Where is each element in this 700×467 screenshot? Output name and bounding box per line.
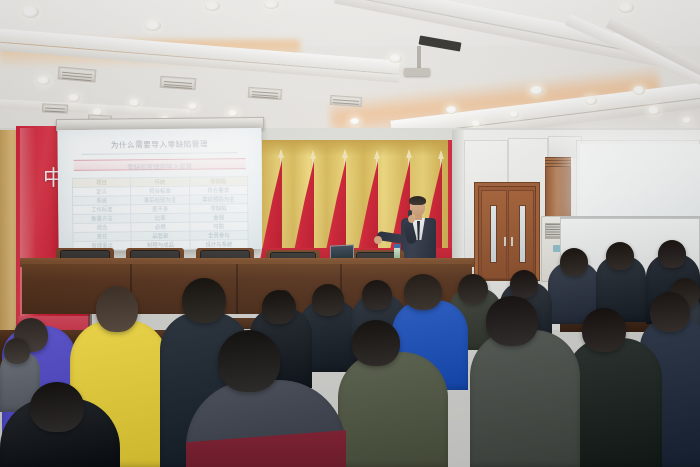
door-glass-panel <box>490 205 497 263</box>
recessed-downlight <box>633 86 645 95</box>
recessed-downlight <box>618 2 634 13</box>
attendee-head <box>404 274 442 310</box>
speaker-right-hand <box>374 236 382 244</box>
recessed-downlight <box>228 110 238 117</box>
ceiling-projector <box>404 68 430 76</box>
recessed-downlight <box>145 20 161 31</box>
slide-subtitle-band: 零缺陷管理的导入背景 <box>74 158 246 171</box>
flag-spear-tip <box>374 150 380 159</box>
recessed-downlight <box>648 106 660 115</box>
attendee-head <box>352 320 400 366</box>
attendee-head <box>262 290 296 324</box>
recessed-downlight <box>530 86 543 95</box>
attendee-head <box>650 292 690 332</box>
door-handle <box>504 237 506 246</box>
slide-subtitle: 零缺陷管理的导入背景 <box>74 160 246 172</box>
attendee-torso <box>566 338 662 467</box>
slide-title: 为什么需要导入零缺陷管理 <box>67 138 251 151</box>
attendee-head <box>30 382 84 432</box>
presentation-slide: 为什么需要导入零缺陷管理 零缺陷管理的导入背景 项目 传统 零缺陷 定义符合标准… <box>57 128 262 251</box>
flag-spear-tip <box>406 149 412 158</box>
attendee-head <box>658 240 686 268</box>
speaker-left-hand <box>408 215 415 223</box>
recessed-downlight <box>509 111 519 118</box>
recessed-downlight <box>37 76 50 85</box>
hvac-vent <box>160 76 197 90</box>
flag-spear-tip <box>278 149 284 158</box>
slide-title-rule <box>82 152 238 155</box>
attendee-head <box>510 270 538 298</box>
flag-spear-tip <box>438 150 444 159</box>
daylight-window <box>580 144 700 220</box>
attendee-head <box>486 296 538 346</box>
slide-table-body: 定义符合标准符合要求系统事后检验为主事前预防为主工作标准差不多零缺陷衡量方法比率… <box>72 186 248 251</box>
attendee-head <box>606 242 634 270</box>
recessed-downlight <box>22 6 39 18</box>
attendee-head <box>458 274 488 304</box>
speaker-hair <box>409 196 426 205</box>
flag-spear-tip <box>310 150 316 159</box>
recessed-downlight <box>585 96 597 105</box>
recessed-downlight <box>205 1 220 11</box>
recessed-downlight <box>471 120 481 127</box>
attendee-head <box>96 286 138 332</box>
recessed-downlight <box>682 117 692 124</box>
door-handle <box>511 237 513 246</box>
gold-curtain-shadow <box>262 140 458 156</box>
water-bottle-cap <box>394 244 400 248</box>
recessed-downlight <box>188 103 198 110</box>
recessed-downlight <box>264 0 279 9</box>
attendee-torso <box>470 330 580 467</box>
attendee-torso <box>338 352 448 467</box>
conference-room-photo: 中 为什么需要导入零缺陷管理 零缺陷管理的导入背景 项目 传统 零缺陷 定义符合… <box>0 0 700 467</box>
door-leaf-right <box>508 190 534 279</box>
recessed-downlight <box>350 118 360 125</box>
recessed-downlight <box>68 94 80 102</box>
attendee-head <box>182 278 226 323</box>
door-leaf-left <box>481 190 507 279</box>
attendee-head <box>312 284 344 316</box>
attendee-head <box>4 338 30 364</box>
attendee-head <box>218 330 280 392</box>
hvac-vent <box>42 103 68 113</box>
hvac-vent <box>248 87 283 100</box>
attendee-head <box>560 248 588 276</box>
ac-duct-grille <box>545 157 571 167</box>
door-glass-panel <box>519 205 526 263</box>
projector-mount-rod <box>417 46 421 69</box>
flag-spear-tip <box>342 149 348 158</box>
wall-pillar <box>452 130 464 260</box>
recessed-downlight <box>389 54 402 63</box>
slide-table: 项目 传统 零缺陷 定义符合标准符合要求系统事后检验为主事前预防为主工作标准差不… <box>72 176 249 251</box>
jacket-maroon-stripe <box>186 427 346 467</box>
table-panel-seam <box>236 264 238 314</box>
attendee-head <box>362 280 392 310</box>
wooden-double-door[interactable] <box>478 186 536 280</box>
projection-screen: 为什么需要导入零缺陷管理 零缺陷管理的导入背景 项目 传统 零缺陷 定义符合标准… <box>57 128 262 251</box>
recessed-downlight <box>446 106 457 114</box>
hvac-vent <box>330 95 363 107</box>
recessed-downlight <box>129 99 140 107</box>
attendee-head <box>582 308 626 352</box>
